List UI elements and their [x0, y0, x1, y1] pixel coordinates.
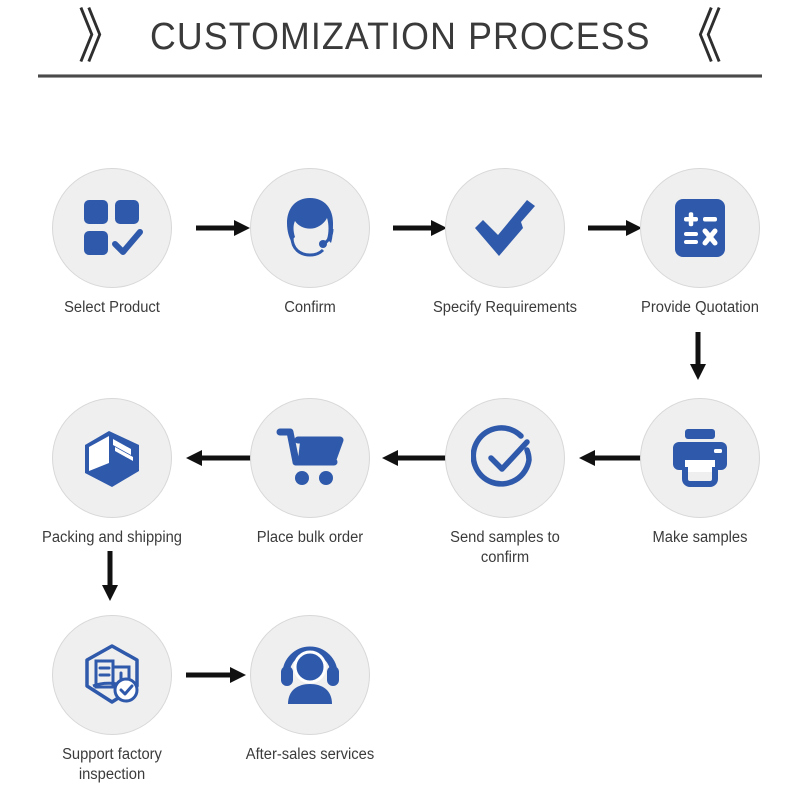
shopping-cart-icon	[276, 426, 344, 490]
step-icon-circle	[445, 398, 565, 518]
circle-check-icon	[471, 424, 539, 492]
step-label: Packing and shipping	[36, 528, 188, 548]
step-label: Specify Requirements	[429, 298, 581, 318]
checkmark-icon	[471, 194, 539, 262]
step-node-specify-requirements[interactable]: Specify Requirements	[425, 168, 585, 318]
product-grid-check-icon	[80, 196, 144, 260]
step-node-confirm[interactable]: Confirm	[230, 168, 390, 318]
step-label: Send samples to confirm	[429, 528, 581, 569]
calculator-icon	[669, 197, 731, 259]
chevron-left-decoration-icon: 《	[672, 8, 722, 67]
chevron-right-decoration-icon: 》	[78, 8, 128, 67]
step-icon-circle	[250, 615, 370, 735]
step-label: Select Product	[36, 298, 188, 318]
step-node-provide-quotation[interactable]: Provide Quotation	[620, 168, 780, 318]
step-icon-circle	[640, 168, 760, 288]
title-row: 》 CUSTOMIZATION PROCESS 《	[0, 12, 800, 62]
step-label: Make samples	[624, 528, 776, 548]
package-box-icon	[79, 425, 145, 491]
step-icon-circle	[445, 168, 565, 288]
step-node-after-sales-services[interactable]: After-sales services	[230, 615, 390, 765]
step-node-support-factory-inspection[interactable]: Support factory inspection	[32, 615, 192, 786]
step-label: Support factory inspection	[36, 745, 188, 786]
step-icon-circle	[52, 168, 172, 288]
support-agent-headset-icon	[275, 193, 345, 263]
step-label: After-sales services	[234, 745, 386, 765]
step-label: Place bulk order	[234, 528, 386, 548]
step-icon-circle	[52, 398, 172, 518]
header: 》 CUSTOMIZATION PROCESS 《	[0, 0, 800, 96]
header-divider	[38, 74, 762, 78]
step-icon-circle	[250, 168, 370, 288]
factory-inspection-badge-icon	[79, 642, 145, 708]
printer-icon	[667, 427, 733, 489]
step-node-place-bulk-order[interactable]: Place bulk order	[230, 398, 390, 548]
step-node-make-samples[interactable]: Make samples	[620, 398, 780, 548]
step-icon-circle	[250, 398, 370, 518]
step-icon-circle	[640, 398, 760, 518]
step-label: Confirm	[234, 298, 386, 318]
step-label: Provide Quotation	[624, 298, 776, 318]
step-node-packing-and-shipping[interactable]: Packing and shipping	[32, 398, 192, 548]
customization-process-diagram: 》 CUSTOMIZATION PROCESS 《 Select Product	[0, 0, 800, 800]
page-title: CUSTOMIZATION PROCESS	[150, 16, 651, 59]
step-icon-circle	[52, 615, 172, 735]
step-node-select-product[interactable]: Select Product	[32, 168, 192, 318]
arrow-row2-to-row3	[100, 551, 120, 603]
headphones-person-icon	[276, 644, 344, 706]
arrow-row1-to-row2	[688, 332, 708, 382]
step-node-send-samples-to-confirm[interactable]: Send samples to confirm	[425, 398, 585, 569]
